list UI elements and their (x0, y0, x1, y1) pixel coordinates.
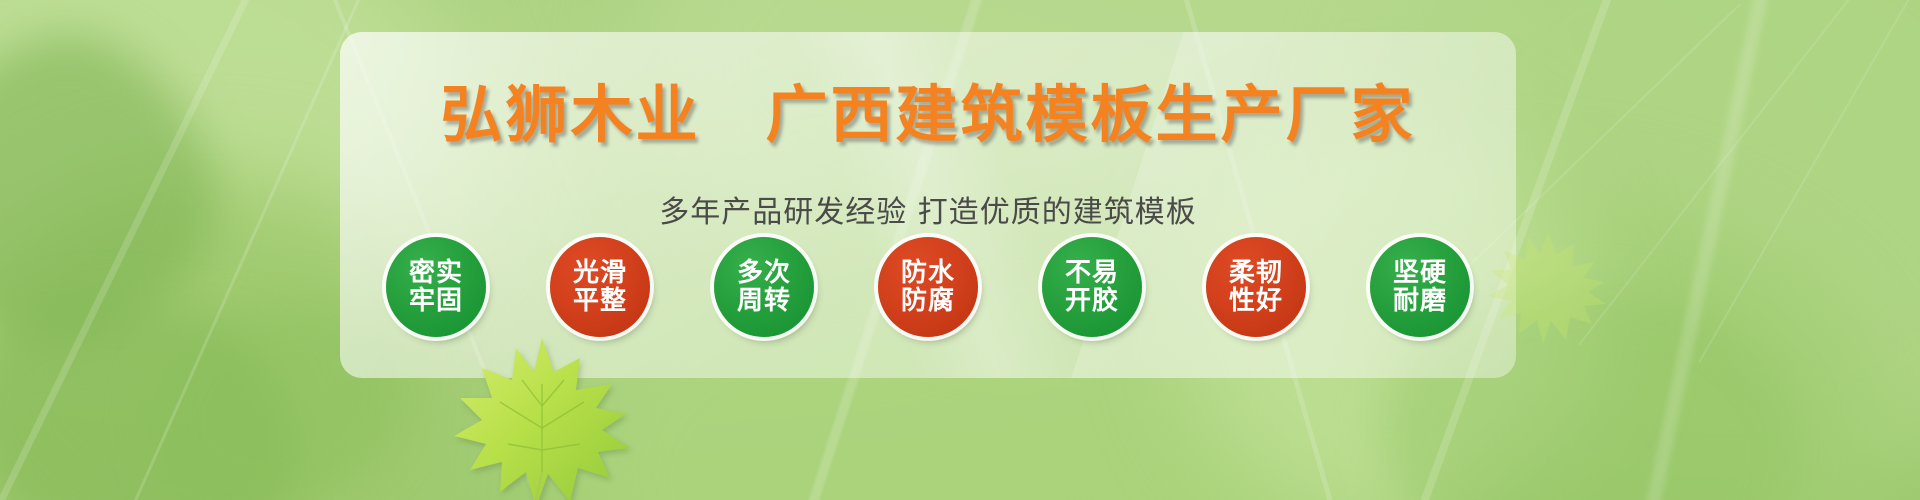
badge-line-1: 柔韧 (1229, 259, 1283, 287)
badge-line-2: 性好 (1229, 287, 1283, 315)
feature-badge-jianYingNaiMo[interactable]: 坚硬 耐磨 (1370, 237, 1470, 337)
banner-headline: 弘狮木业 广西建筑模板生产厂家 (340, 84, 1516, 146)
feature-badge-row: 密实 牢固 光滑 平整 多次 周转 防水 防腐 不易 开胶 柔韧 性好 (386, 237, 1470, 337)
badge-line-1: 防水 (901, 259, 955, 287)
badge-line-2: 牢固 (409, 287, 463, 315)
badge-line-1: 光滑 (573, 259, 627, 287)
feature-badge-rouRenXingHao[interactable]: 柔韧 性好 (1206, 237, 1306, 337)
badge-line-2: 开胶 (1065, 287, 1119, 315)
feature-badge-duoCiZhouZhuan[interactable]: 多次 周转 (714, 237, 814, 337)
badge-line-2: 周转 (737, 287, 791, 315)
badge-line-1: 不易 (1065, 259, 1119, 287)
badge-line-1: 密实 (409, 259, 463, 287)
feature-badge-guangHuaPingZheng[interactable]: 光滑 平整 (550, 237, 650, 337)
feature-badge-buYiKaiJiao[interactable]: 不易 开胶 (1042, 237, 1142, 337)
content-panel: 弘狮木业 广西建筑模板生产厂家 多年产品研发经验 打造优质的建筑模板 密实 牢固… (340, 32, 1516, 378)
badge-line-2: 耐磨 (1393, 287, 1447, 315)
badge-line-2: 防腐 (901, 287, 955, 315)
banner-subtitle: 多年产品研发经验 打造优质的建筑模板 (340, 195, 1516, 231)
badge-line-2: 平整 (573, 287, 627, 315)
promo-banner: 弘狮木业 广西建筑模板生产厂家 多年产品研发经验 打造优质的建筑模板 密实 牢固… (0, 0, 1920, 500)
feature-badge-miShiLaoGu[interactable]: 密实 牢固 (386, 237, 486, 337)
badge-line-1: 多次 (737, 259, 791, 287)
feature-badge-fangShuiFangFu[interactable]: 防水 防腐 (878, 237, 978, 337)
badge-line-1: 坚硬 (1393, 259, 1447, 287)
